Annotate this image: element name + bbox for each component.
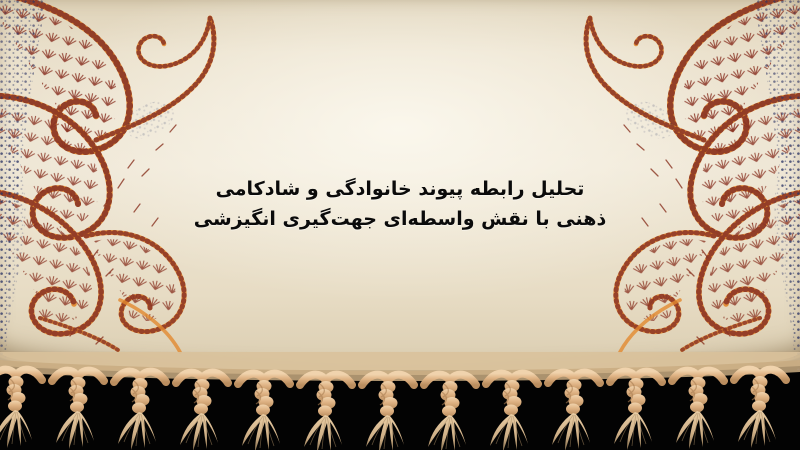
slide-canvas: تحلیل رابطه پیوند خانوادگی و شادکامی ذهن…: [0, 0, 800, 450]
title-line-2: ذهنی با نقش واسطه‌ای جهت‌گیری انگیزشی: [170, 204, 630, 234]
slide-title: تحلیل رابطه پیوند خانوادگی و شادکامی ذهن…: [170, 174, 630, 234]
tassel-fringe: [0, 352, 800, 450]
title-line-1: تحلیل رابطه پیوند خانوادگی و شادکامی: [170, 174, 630, 204]
